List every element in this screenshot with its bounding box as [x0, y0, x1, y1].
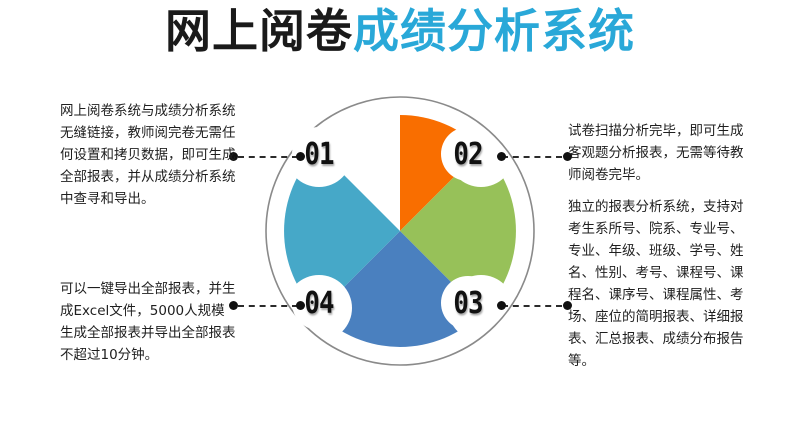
connector-line-top-right [502, 156, 562, 160]
connector-dot-top-right-inner [497, 152, 506, 161]
connector-line-bottom-left [238, 305, 298, 309]
callout-top-left: 网上阅卷系统与成绩分析系统无缝链接，教师阅完卷无需任何设置和拷贝数据，即可生成全… [60, 100, 236, 210]
connector-line-top-left [238, 156, 298, 160]
callout-bottom-left: 可以一键导出全部报表，并生成Excel文件，5000人规模生成全部报表并导出全部… [60, 278, 236, 366]
connector-line-bottom-right [502, 305, 562, 309]
segment-number-03[interactable]: 03 [441, 276, 495, 330]
page-title: 网上阅卷成绩分析系统 [0, 3, 800, 59]
segment-number-04-label: 04 [304, 286, 333, 321]
callout-top-right: 试卷扫描分析完毕，即可生成客观题分析报表，无需等待教师阅卷完毕。 [568, 120, 746, 186]
connector-dot-top-left-inner [296, 152, 305, 161]
segment-number-01-label: 01 [304, 137, 333, 172]
segment-number-02-label: 02 [453, 137, 482, 172]
connector-dot-bottom-left-inner [296, 301, 305, 310]
segment-number-02[interactable]: 02 [441, 127, 495, 181]
title-dark-text: 网上阅卷 [165, 4, 353, 58]
connector-dot-bottom-right-inner [497, 301, 506, 310]
title-accent-text: 成绩分析系统 [353, 4, 635, 58]
segment-number-03-label: 03 [453, 286, 482, 321]
slide-canvas: 网上阅卷成绩分析系统 [0, 0, 800, 443]
callout-bottom-right: 独立的报表分析系统，支持对考生系所号、院系、专业号、专业、年级、班级、学号、姓名… [568, 196, 746, 372]
